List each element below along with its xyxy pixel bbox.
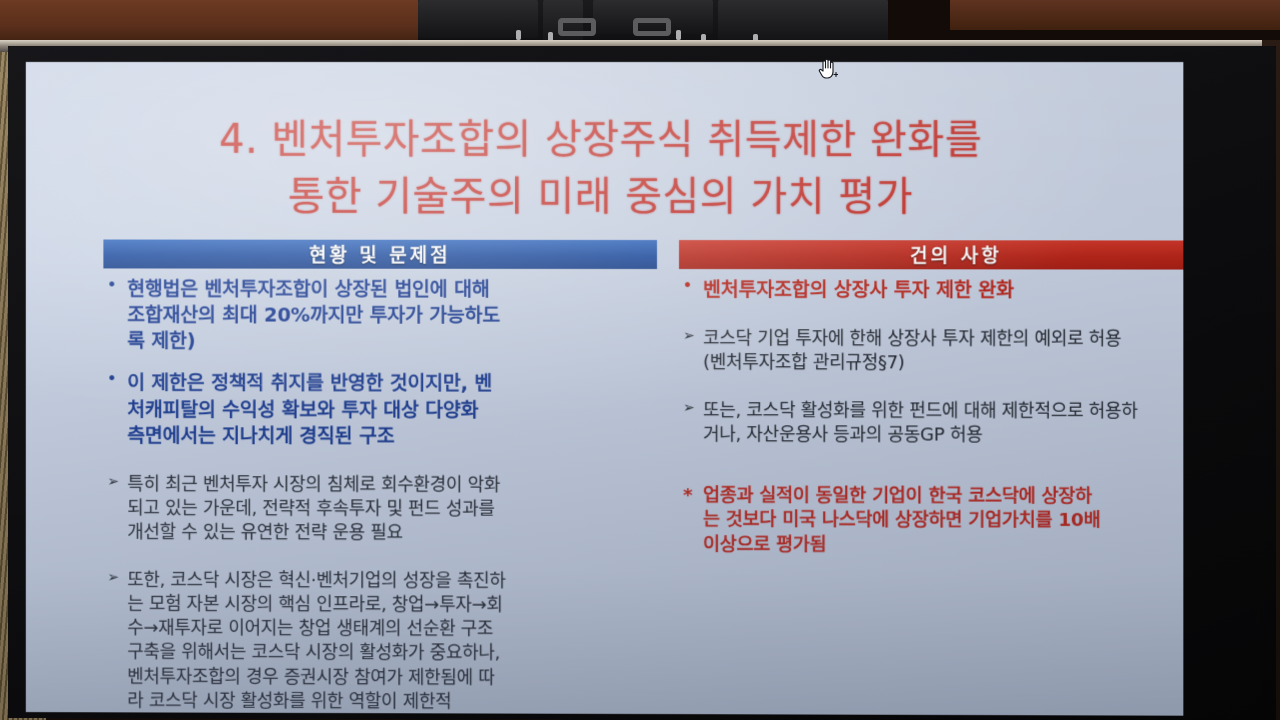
presentation-slide: 4. 벤처투자조합의 상장주식 취득제한 완화를 통한 기술주의 미래 중심의 … xyxy=(26,62,1184,716)
asterisk-icon: * xyxy=(683,484,703,558)
right-sub-text: 코스닥 기업 투자에 한해 상장사 투자 제한의 예외로 허용 (벤처투자조합 … xyxy=(703,327,1183,376)
right-sub-item: ➢ 또는, 코스닥 활성화를 위한 펀드에 대해 제한적으로 허용하 거나, 자… xyxy=(683,399,1183,448)
rig-handle xyxy=(558,18,596,36)
right-bullet-item: • 벤처투자조합의 상장사 투자 제한 완화 xyxy=(683,277,1183,304)
display-panel: 4. 벤처투자조합의 상장주식 취득제한 완화를 통한 기술주의 미래 중심의 … xyxy=(26,62,1184,716)
text-line: 라 코스닥 시장 활성화를 위한 역할이 제한적 xyxy=(127,689,653,715)
text-line: 측면에서는 지나치게 경직된 구조 xyxy=(127,423,653,450)
left-sub-text: 특히 최근 벤처투자 시장의 침체로 회수환경이 악화 되고 있는 가운데, 전… xyxy=(127,473,653,546)
right-sub-item: ➢ 코스닥 기업 투자에 한해 상장사 투자 제한의 예외로 허용 (벤처투자조… xyxy=(683,327,1183,376)
text-line: 업종과 실적이 동일한 기업이 한국 코스닥에 상장하 xyxy=(703,484,1183,510)
spacer xyxy=(107,551,653,570)
text-line: 벤처투자조합의 상장사 투자 제한 완화 xyxy=(703,277,1183,304)
text-line: 벤처투자조합의 경우 증권시장 참여가 제한됨에 따 xyxy=(127,665,653,691)
text-line: 이 제한은 정책적 취지를 반영한 것이지만, 벤 xyxy=(127,371,653,398)
rig-handle xyxy=(633,18,671,36)
wood-wall-left xyxy=(0,0,430,44)
right-note: * 업종과 실적이 동일한 기업이 한국 코스닥에 상장하 는 것보다 미국 나… xyxy=(683,484,1183,560)
left-bullet-item: • 현행법은 벤처투자조합이 상장된 법인에 대해 조합재산의 최대 20%까지… xyxy=(107,276,653,355)
right-note-text: 업종과 실적이 동일한 기업이 한국 코스닥에 상장하 는 것보다 미국 나스닥… xyxy=(703,484,1183,560)
spacer xyxy=(683,454,1183,485)
rig-screw xyxy=(516,30,521,40)
text-line: 조합재산의 최대 20%까지만 투자가 가능하도 xyxy=(127,303,653,330)
right-column-header: 건의 사항 xyxy=(679,240,1183,270)
right-bullet-text: 벤처투자조합의 상장사 투자 제한 완화 xyxy=(703,277,1183,304)
text-line: 거나, 자산운용사 등과의 공동GP 허용 xyxy=(703,424,1183,449)
slide-title-line-2: 통한 기술주의 미래 중심의 가치 평가 xyxy=(82,168,1122,226)
arrow-bullet-icon: ➢ xyxy=(683,327,703,375)
slide-title: 4. 벤처투자조합의 상장주식 취득제한 완화를 통한 기술주의 미래 중심의 … xyxy=(82,112,1122,226)
left-bullet-text: 이 제한은 정책적 취지를 반영한 것이지만, 벤 처캐피탈의 수익성 확보와 … xyxy=(127,371,653,450)
text-line: 는 것보다 미국 나스닥에 상장하면 기업가치를 10배 xyxy=(703,508,1183,534)
text-line: 개선할 수 있는 유연한 전략 운용 필요 xyxy=(127,521,653,546)
wood-wall-right xyxy=(950,0,1280,30)
spacer xyxy=(683,381,1183,400)
presentation-display: 4. 벤처투자조합의 상장주식 취득제한 완화를 통한 기술주의 미래 중심의 … xyxy=(8,46,1276,720)
text-line: 이상으로 평가됨 xyxy=(703,533,1183,559)
bullet-dot-icon: • xyxy=(107,371,127,449)
left-column-body: • 현행법은 벤처투자조합이 상장된 법인에 대해 조합재산의 최대 20%까지… xyxy=(103,268,657,714)
right-column-body: • 벤처투자조합의 상장사 투자 제한 완화 ➢ 코스닥 기업 투자에 xyxy=(679,269,1183,559)
text-line: 코스닥 기업 투자에 한해 상장사 투자 제한의 예외로 허용 xyxy=(703,327,1183,352)
spacer xyxy=(107,455,653,474)
text-line: 특히 최근 벤처투자 시장의 침체로 회수환경이 악화 xyxy=(127,473,653,498)
rig-block xyxy=(718,0,888,40)
text-line: 되고 있는 가운데, 전략적 후속투자 및 펀드 성과를 xyxy=(127,497,653,522)
text-line: 구축을 위해서는 코스닥 시장의 활성화가 중요하나, xyxy=(127,641,653,667)
spacer xyxy=(683,309,1183,328)
left-bullet-item: • 이 제한은 정책적 취지를 반영한 것이지만, 벤 처캐피탈의 수익성 확보… xyxy=(107,371,653,450)
slide-title-line-1: 4. 벤처투자조합의 상장주식 취득제한 완화를 xyxy=(82,112,1122,169)
bullet-dot-icon: • xyxy=(107,276,127,354)
text-line: 는 모험 자본 시장의 핵심 인프라로, 창업→투자→회 xyxy=(127,593,653,618)
text-line: 또는, 코스닥 활성화를 위한 펀드에 대해 제한적으로 허용하 xyxy=(703,399,1183,424)
left-sub-item: ➢ 또한, 코스닥 시장은 혁신·벤처기업의 성장을 촉진하 는 모험 자본 시… xyxy=(107,569,653,715)
text-line: 수→재투자로 이어지는 창업 생태계의 선순환 구조 xyxy=(127,617,653,643)
text-line: 또한, 코스닥 시장은 혁신·벤처기업의 성장을 촉진하 xyxy=(127,569,653,594)
conference-room-photo: 4. 벤처투자조합의 상장주식 취득제한 완화를 통한 기술주의 미래 중심의 … xyxy=(0,0,1280,720)
left-column-header: 현황 및 문제점 xyxy=(103,240,657,270)
left-bullet-text: 현행법은 벤처투자조합이 상장된 법인에 대해 조합재산의 최대 20%까지만 … xyxy=(127,276,653,355)
bullet-dot-icon: • xyxy=(683,277,703,303)
arrow-bullet-icon: ➢ xyxy=(107,473,127,545)
text-line: 록 제한) xyxy=(127,329,653,356)
left-column: 현황 및 문제점 • 현행법은 벤처투자조합이 상장된 법인에 대해 조합재산의… xyxy=(103,240,657,707)
right-sub-text: 또는, 코스닥 활성화를 위한 펀드에 대해 제한적으로 허용하 거나, 자산운… xyxy=(703,399,1183,448)
rig-screw xyxy=(676,30,681,40)
arrow-bullet-icon: ➢ xyxy=(107,569,127,713)
left-sub-text: 또한, 코스닥 시장은 혁신·벤처기업의 성장을 촉진하 는 모험 자본 시장의… xyxy=(127,569,653,715)
right-column: 건의 사항 • 벤처투자조합의 상장사 투자 제한 완화 xyxy=(679,240,1183,708)
text-line: 현행법은 벤처투자조합이 상장된 법인에 대해 xyxy=(127,276,653,303)
text-line: (벤처투자조합 관리규정§7) xyxy=(703,351,1183,376)
left-sub-item: ➢ 특히 최근 벤처투자 시장의 침체로 회수환경이 악화 되고 있는 가운데,… xyxy=(107,473,653,546)
arrow-bullet-icon: ➢ xyxy=(683,399,703,447)
text-line: 처캐피탈의 수익성 확보와 투자 대상 다양화 xyxy=(127,397,653,424)
slide-columns: 현황 및 문제점 • 현행법은 벤처투자조합이 상장된 법인에 대해 조합재산의… xyxy=(26,239,1184,707)
